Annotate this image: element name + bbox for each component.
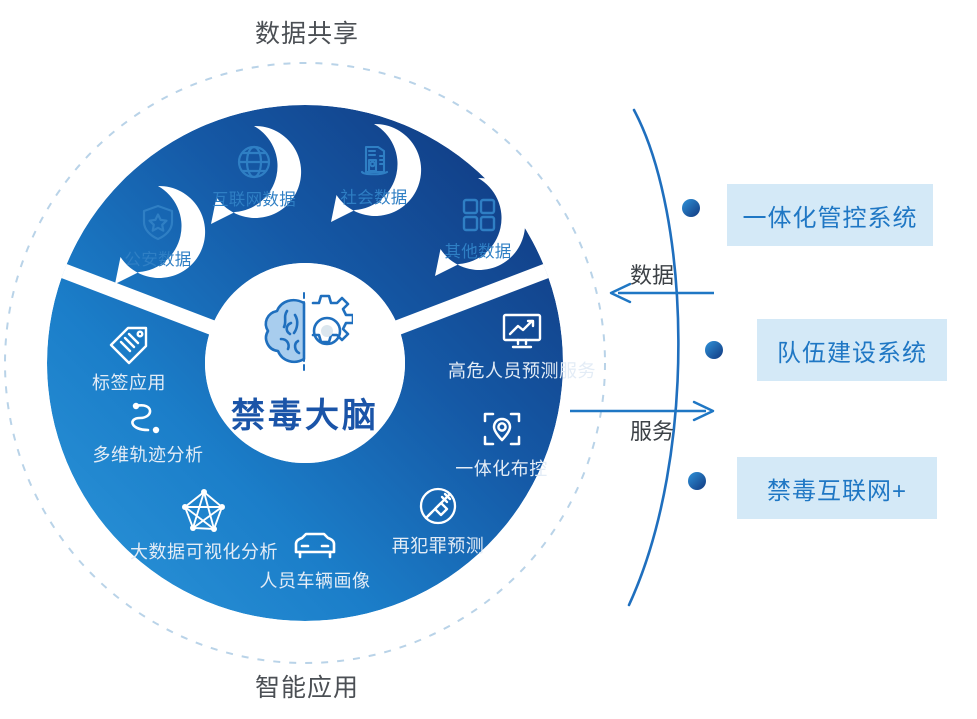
bracket-dot: [688, 472, 706, 490]
bracket-curve: [629, 110, 678, 605]
system-box-integrated-control[interactable]: 一体化管控系统: [727, 184, 933, 246]
brain-gear-icon: [257, 289, 353, 380]
app-item-portrait[interactable]: 人员车辆画像: [260, 530, 370, 593]
system-box-internet-plus[interactable]: 禁毒互联网+: [737, 457, 937, 519]
data-source-label: 社会数据: [322, 184, 426, 208]
app-item-trajectory[interactable]: 多维轨迹分析: [78, 398, 218, 467]
system-label: 队伍建设系统: [777, 333, 927, 368]
app-item-label: 一体化布控: [455, 455, 548, 481]
center-node: 禁毒大脑: [205, 275, 405, 450]
app-item-label: 标签应用: [92, 369, 166, 395]
diagram-canvas: 数据共享 智能应用 数据 服务 禁毒大脑: [0, 0, 977, 719]
location-scan-icon: [479, 406, 525, 452]
no-syringe-icon: [415, 483, 461, 529]
car-icon: [290, 530, 340, 564]
app-item-label: 再犯罪预测: [392, 532, 485, 558]
app-item-highrisk[interactable]: 高危人员预测服务: [443, 310, 601, 383]
bottom-label: 智能应用: [255, 668, 359, 704]
flow-label-data: 数据: [630, 258, 674, 290]
flow-label-service: 服务: [630, 414, 674, 446]
data-source-label: 其他数据: [426, 238, 530, 262]
data-source-pin-gongan[interactable]: 公安数据: [106, 180, 210, 300]
system-label: 一体化管控系统: [743, 198, 918, 233]
top-label: 数据共享: [255, 14, 359, 50]
app-item-recidivism[interactable]: 再犯罪预测: [383, 483, 493, 558]
trajectory-icon: [124, 398, 172, 438]
app-item-label: 人员车辆画像: [260, 567, 371, 593]
app-item-deployment[interactable]: 一体化布控: [444, 406, 559, 481]
app-item-label: 高危人员预测服务: [448, 357, 596, 383]
monitor-chart-icon: [498, 310, 546, 354]
tag-icon: [106, 322, 152, 366]
grid-squares-icon: [458, 194, 498, 234]
system-label: 禁毒互联网+: [767, 471, 907, 506]
data-source-label: 互联网数据: [202, 186, 306, 210]
bracket-dot: [682, 199, 700, 217]
center-title: 禁毒大脑: [231, 388, 379, 437]
shield-star-icon: [138, 202, 178, 242]
system-box-team-building[interactable]: 队伍建设系统: [757, 319, 947, 381]
data-source-pin-social[interactable]: 社会数据: [322, 118, 426, 238]
bracket-dot: [705, 341, 723, 359]
app-item-label: 多维轨迹分析: [93, 441, 204, 467]
globe-icon: [234, 142, 274, 182]
data-source-label: 公安数据: [106, 246, 210, 270]
app-item-tag[interactable]: 标签应用: [74, 322, 184, 395]
network-graph-icon: [179, 487, 229, 535]
app-item-label: 大数据可视化分析: [130, 538, 278, 564]
building-icon: [354, 140, 394, 180]
data-source-pin-internet[interactable]: 互联网数据: [202, 120, 306, 240]
data-source-pin-other[interactable]: 其他数据: [426, 172, 530, 292]
